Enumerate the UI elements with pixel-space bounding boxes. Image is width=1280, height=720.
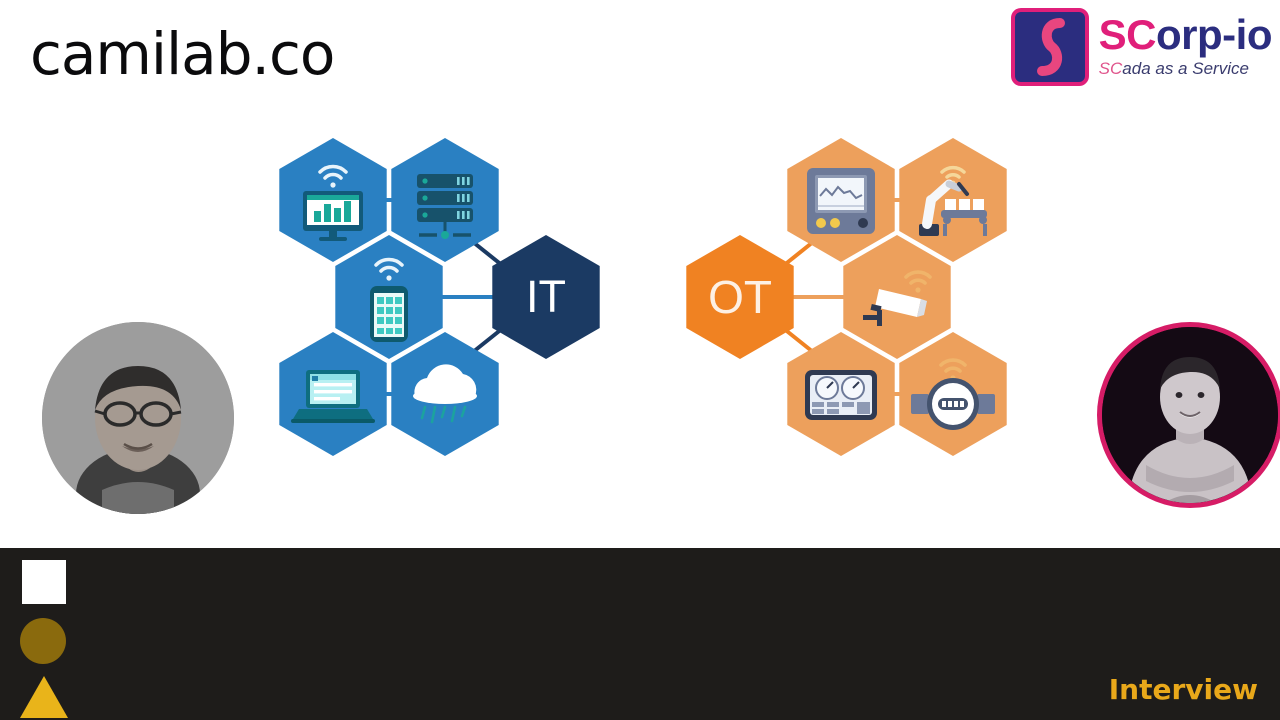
it-core-hex: IT bbox=[492, 235, 599, 359]
scorpio-logo: SCorp-io SCada as a Service bbox=[1011, 8, 1272, 86]
it-node-cloud bbox=[391, 332, 498, 456]
smartphone-apps-icon bbox=[370, 286, 408, 342]
ot-node-hmi bbox=[787, 138, 894, 262]
video-thumbnail-stage: camilab.co SCorp-io SCada as a Service bbox=[0, 0, 1280, 548]
ot-hex-cluster: OT bbox=[678, 112, 1028, 482]
scorpio-tagline-prefix: SC bbox=[1099, 59, 1123, 78]
ot-node-robot bbox=[899, 138, 1006, 262]
status-badge: Interview bbox=[1109, 673, 1258, 706]
scorpio-mark bbox=[1011, 8, 1089, 86]
it-core-label: IT bbox=[526, 271, 566, 322]
triangle-marker-icon bbox=[20, 676, 68, 718]
ot-node-gauges bbox=[787, 332, 894, 456]
guest-portrait-left bbox=[42, 322, 234, 514]
scorpio-name-suffix: orp-io bbox=[1156, 11, 1272, 58]
it-node-laptop bbox=[279, 332, 386, 456]
gauge-control-panel-icon bbox=[805, 370, 877, 420]
host-portrait-right bbox=[1097, 322, 1280, 508]
circle-marker-icon bbox=[20, 618, 66, 664]
ot-core-label: OT bbox=[708, 271, 772, 323]
it-hex-cluster: IT bbox=[258, 112, 608, 482]
camilab-wordmark: camilab.co bbox=[30, 20, 334, 88]
scorpio-tagline: SCada as a Service bbox=[1099, 60, 1272, 77]
scorpio-tagline-suffix: ada as a Service bbox=[1122, 59, 1249, 78]
scorpio-name-prefix: SC bbox=[1099, 11, 1156, 58]
ot-node-meter bbox=[899, 332, 1006, 456]
it-node-monitor bbox=[279, 138, 386, 262]
ot-node-camera bbox=[843, 235, 950, 359]
scorpio-s-curve-icon bbox=[1022, 17, 1078, 77]
square-marker-icon bbox=[22, 560, 66, 604]
lower-third-bar: OT INDUSTRIE Interview bbox=[0, 548, 1280, 720]
scorpio-logotype: SCorp-io SCada as a Service bbox=[1099, 8, 1272, 77]
hmi-panel-graph-icon bbox=[807, 168, 875, 234]
scorpio-name: SCorp-io bbox=[1099, 14, 1272, 56]
ot-core-hex: OT bbox=[686, 235, 793, 359]
it-node-smartphone bbox=[335, 235, 442, 359]
it-node-server bbox=[391, 138, 498, 262]
